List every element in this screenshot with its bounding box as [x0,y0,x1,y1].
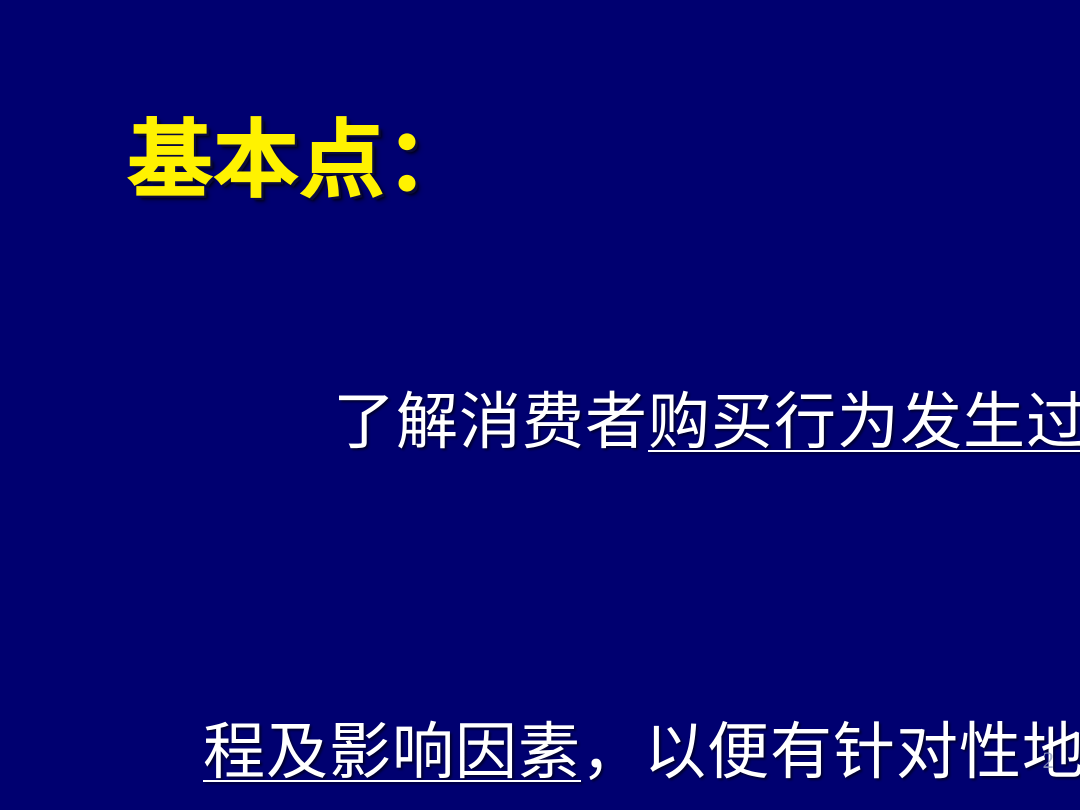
body-line-2: 程及影响因素，以便有针对性地 [104,588,974,810]
body-line-2-segment-2: ，以便有针对性地 [581,719,1080,787]
body-line-1-segment-2-underlined: 购买行为发生过 [648,389,1080,457]
slide-body-block: 了解消费者购买行为发生过 程及影响因素，以便有针对性地 制定营销战略和策略。 [104,258,974,810]
slide-canvas: 基本点： 了解消费者购买行为发生过 程及影响因素，以便有针对性地 制定营销战略和… [0,0,1080,810]
slide-title-block: 基本点： [128,118,948,228]
body-line-2-segment-1-underlined: 程及影响因素 [203,719,581,787]
body-line-1: 了解消费者购买行为发生过 [104,258,974,588]
page-number: 2 [1043,748,1055,774]
body-line-1-segment-1: 了解消费者 [333,389,648,457]
slide-title: 基本点： [128,118,948,202]
